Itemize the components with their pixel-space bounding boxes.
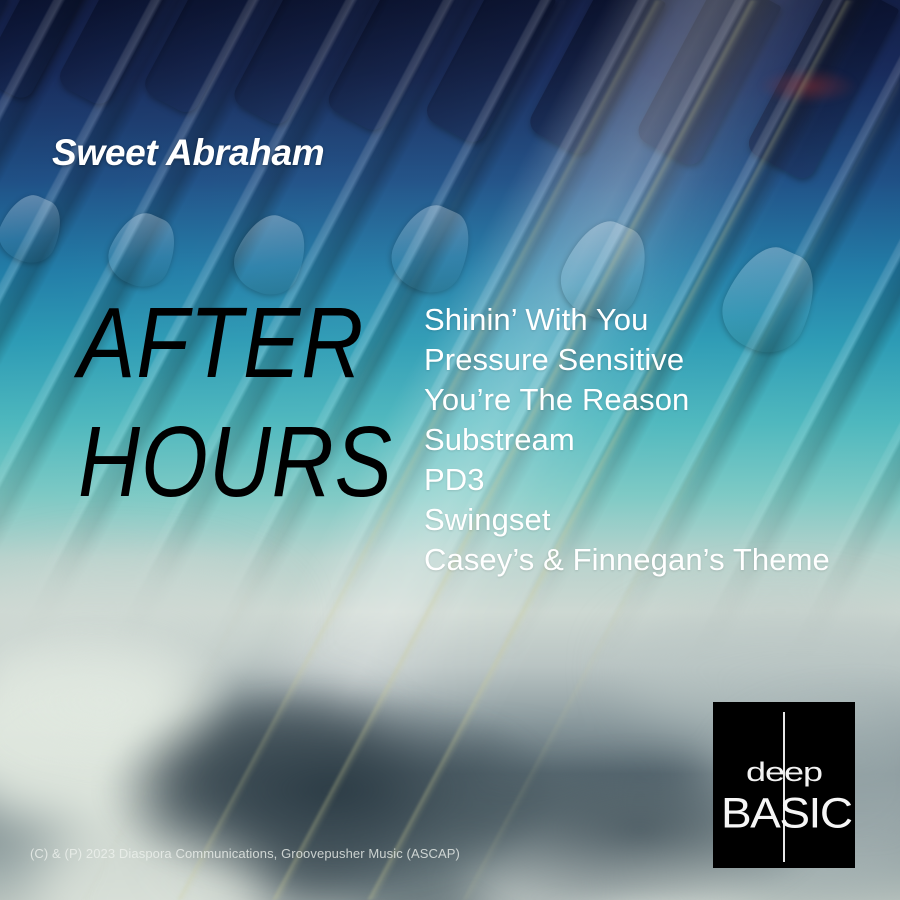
- album-title-line-2: HOURS: [78, 415, 393, 510]
- copyright-notice: (C) & (P) 2023 Diaspora Communications, …: [30, 846, 460, 861]
- logo-vertical-line-icon: [783, 712, 785, 862]
- track-item: Substream: [424, 420, 830, 460]
- track-item: Shinin’ With You: [424, 300, 830, 340]
- track-item: Swingset: [424, 500, 830, 540]
- track-item: PD3: [424, 460, 830, 500]
- album-cover: Sweet Abraham AFTER HOURS Shinin’ With Y…: [0, 0, 900, 900]
- track-item: Pressure Sensitive: [424, 340, 830, 380]
- logo-bottom-word: BASIC: [721, 792, 847, 834]
- album-title-line-1: AFTER: [78, 296, 393, 391]
- artist-name: Sweet Abraham: [52, 132, 324, 174]
- logo-top-word: deep: [729, 759, 839, 786]
- track-item: Casey’s & Finnegan’s Theme: [424, 540, 830, 580]
- track-list: Shinin’ With You Pressure Sensitive You’…: [424, 300, 830, 580]
- track-item: You’re The Reason: [424, 380, 830, 420]
- album-title: AFTER HOURS: [78, 296, 393, 510]
- record-label-logo: deep BASIC: [713, 702, 855, 868]
